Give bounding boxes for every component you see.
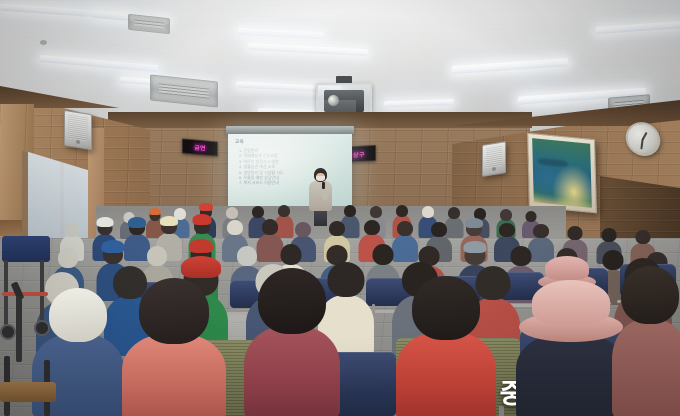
led-sign-left: 금연: [182, 138, 218, 156]
ceiling-light: [518, 88, 646, 105]
ceiling-light: [120, 77, 216, 90]
ceiling-light: [596, 21, 680, 34]
presenter: [305, 168, 335, 226]
lecture-hall-photo: 금연 비상구 교육 1. 건강관리 2. 치매예방과 운동요법 3. 어르신 안…: [0, 0, 680, 416]
audience-person-foreground-hat: [516, 272, 626, 416]
audience-person-foreground-far-right: [612, 266, 680, 416]
audience-person-foreground-right: [396, 276, 496, 416]
ceiling-light: [40, 55, 158, 72]
led-sign-left-text: 금연: [194, 142, 206, 152]
audience-person-foreground-left: [122, 278, 226, 416]
screen-housing: [226, 126, 354, 134]
ceiling-light: [92, 11, 170, 25]
ceiling-light: [238, 28, 324, 40]
ceiling-light: [0, 3, 130, 19]
wall-speaker-left: [64, 110, 92, 150]
ac-vent: [150, 74, 218, 107]
ceiling-light: [452, 58, 568, 74]
wall-painting: [527, 133, 597, 214]
wall-speaker-right: [482, 141, 506, 177]
ceiling-fitting: [40, 40, 47, 45]
microphone-icon: [322, 182, 325, 189]
ceiling-light: [248, 43, 368, 56]
ac-vent: [128, 14, 170, 34]
walker-handle: [0, 282, 46, 372]
audience-person-foreground-center: [244, 268, 340, 416]
ceiling-light: [384, 99, 454, 107]
